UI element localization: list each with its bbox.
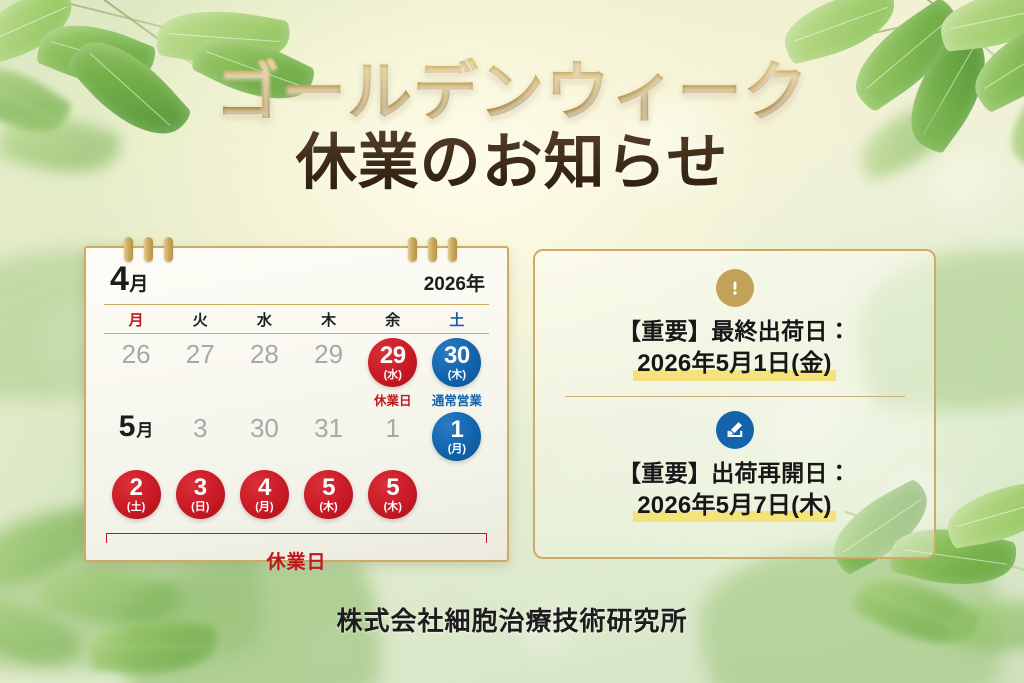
calendar-holiday-day: 4(月)	[232, 470, 296, 519]
day-badge: 5(木)	[368, 470, 417, 519]
calendar-day-number: 27	[186, 338, 215, 371]
binder-ring	[164, 237, 173, 262]
calendar-day-cell: 1	[361, 412, 425, 445]
day-badge-weekday: (木)	[319, 502, 337, 513]
calendar-day-cell: 30	[232, 412, 296, 445]
day-badge-weekday: (土)	[127, 502, 145, 513]
calendar-day-number: 1	[386, 412, 400, 445]
calendar-day-cell: 3	[168, 412, 232, 445]
calendar-week-row: 2(土)3(日)4(月)5(木)5(木)	[104, 470, 489, 530]
calendar-day-cell: 29	[296, 338, 360, 371]
day-badge: 5(木)	[304, 470, 353, 519]
binder-ring	[124, 237, 133, 262]
weekday-header-cell: 余	[361, 309, 425, 330]
calendar-month-number: 4	[110, 262, 128, 296]
notice-panel: 【重要】最終出荷日：2026年5月1日(金)【重要】出荷再開日：2026年5月7…	[533, 249, 936, 559]
calendar-day-number: 30	[250, 412, 279, 445]
calendar-holiday-day: 3(日)	[168, 470, 232, 519]
day-badge: 29(水)	[368, 338, 417, 387]
calendar-day-number: 29	[314, 338, 343, 371]
exclamation-icon	[716, 269, 754, 307]
calendar-day-cell: 26	[104, 338, 168, 371]
day-badge: 2(土)	[112, 470, 161, 519]
day-status-note: 通常営業	[432, 390, 482, 409]
calendar-day-number: 3	[193, 412, 207, 445]
title-line-closure-notice: 休業のお知らせ	[0, 127, 1024, 199]
binder-ring	[448, 237, 457, 262]
notice-heading: 【重要】出荷再開日：	[618, 458, 851, 488]
calendar-holiday-day: 2(土)	[104, 470, 168, 519]
notice-divider	[565, 396, 905, 397]
calendar-weeks: 2627282929(水)休業日30(木)通常営業 5月3303111(月) 2…	[86, 334, 507, 530]
weekday-header-cell: 火	[168, 309, 232, 330]
weekday-header-cell: 木	[296, 309, 360, 330]
notice-item: 【重要】出荷再開日：2026年5月7日(木)	[535, 411, 934, 523]
calendar-month: 4 月	[110, 262, 148, 296]
holiday-span-bracket-zone: 休業日	[106, 531, 487, 577]
day-badge-weekday: (月)	[255, 502, 273, 513]
calendar-open-day: 30(木)通常営業	[425, 338, 489, 409]
day-badge-number: 2	[130, 476, 143, 500]
calendar-day-number: 31	[314, 412, 343, 445]
day-badge-number: 1	[450, 418, 463, 442]
notice-date: 2026年5月1日(金)	[633, 348, 835, 380]
calendar-week-row: 2627282929(水)休業日30(木)通常営業	[104, 334, 489, 412]
calendar-inline-month-label: 5月	[104, 412, 168, 442]
day-badge-number: 30	[444, 344, 470, 368]
pencil-edit-icon	[716, 411, 754, 449]
day-badge-number: 29	[380, 344, 406, 368]
calendar-holiday-day: 5(木)	[361, 470, 425, 519]
binder-ring	[408, 237, 417, 262]
calendar-week-row: 5月3303111(月)	[104, 412, 489, 470]
day-badge-weekday: (木)	[448, 370, 466, 381]
weekday-header-cell: 土	[425, 309, 489, 330]
day-badge-weekday: (水)	[384, 370, 402, 381]
weekday-header-cell: 月	[104, 309, 168, 330]
calendar-weekday-header: 月火水木余土	[104, 304, 489, 334]
calendar-day-cell: 27	[168, 338, 232, 371]
calendar-day-number: 26	[122, 338, 151, 371]
calendar-month-suffix: 月	[129, 269, 148, 296]
poster-canvas: ゴールデンウィーク 休業のお知らせ 4 月 2026年 月火水木余土 26272…	[0, 0, 1024, 683]
calendar-day-number: 28	[250, 338, 279, 371]
inline-month: 5月	[119, 412, 154, 442]
day-badge: 30(木)	[432, 338, 481, 387]
calendar-year: 2026年	[424, 269, 485, 296]
calendar-day-cell: 28	[232, 338, 296, 371]
day-badge: 4(月)	[240, 470, 289, 519]
weekday-header-cell: 水	[232, 309, 296, 330]
calendar-day-cell: 31	[296, 412, 360, 445]
calendar-card: 4 月 2026年 月火水木余土 2627282929(水)休業日30(木)通常…	[84, 246, 509, 562]
notice-item: 【重要】最終出荷日：2026年5月1日(金)	[535, 269, 934, 381]
calendar-holiday-day: 5(木)	[296, 470, 360, 519]
day-badge-weekday: (月)	[448, 444, 466, 455]
day-badge-number: 4	[258, 476, 271, 500]
calendar-open-day: 1(月)	[425, 412, 489, 461]
calendar-rings-right	[408, 237, 457, 262]
calendar-rings-left	[124, 237, 173, 262]
company-name: 株式会社細胞治療技術研究所	[0, 601, 1024, 638]
inline-month-number: 5	[119, 412, 136, 442]
poster-title: ゴールデンウィーク 休業のお知らせ	[0, 58, 1024, 199]
day-badge-weekday: (木)	[384, 502, 402, 513]
day-badge-number: 5	[322, 476, 335, 500]
holiday-span-label: 休業日	[106, 547, 487, 574]
day-badge-number: 3	[194, 476, 207, 500]
inline-month-suffix: 月	[136, 416, 153, 441]
day-status-note: 休業日	[374, 390, 412, 409]
day-badge: 1(月)	[432, 412, 481, 461]
day-badge-number: 5	[386, 476, 399, 500]
day-badge-weekday: (日)	[191, 502, 209, 513]
notice-heading: 【重要】最終出荷日：	[618, 316, 851, 346]
day-badge: 3(日)	[176, 470, 225, 519]
binder-ring	[428, 237, 437, 262]
holiday-span-bracket	[106, 533, 487, 543]
calendar-holiday-day: 29(水)休業日	[361, 338, 425, 409]
notice-date: 2026年5月7日(木)	[633, 490, 835, 522]
title-line-golden-week: ゴールデンウィーク	[0, 58, 1024, 127]
binder-ring	[144, 237, 153, 262]
